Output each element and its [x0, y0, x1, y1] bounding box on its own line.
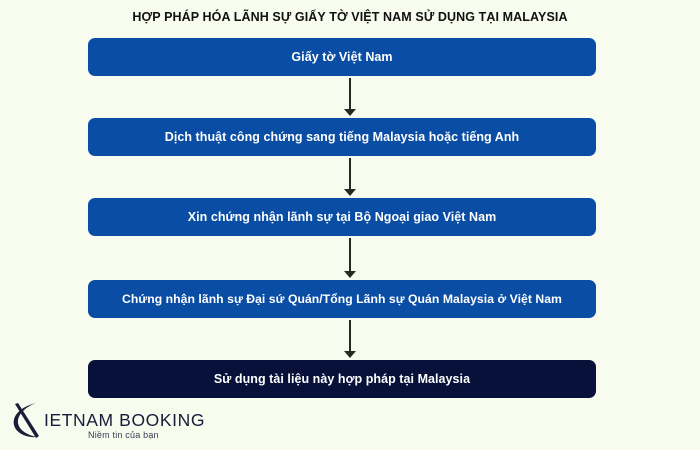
- brand-logo: IETNAM BOOKING Niềm tin của bạn: [6, 400, 196, 448]
- down-arrow-icon: [344, 351, 356, 358]
- connector-4-line: [349, 320, 351, 354]
- connector-2-line: [349, 158, 351, 192]
- down-arrow-icon: [344, 271, 356, 278]
- logo-tagline: Niềm tin của bạn: [88, 430, 159, 440]
- logo-wordmark: IETNAM BOOKING: [44, 410, 205, 431]
- flowchart: Giấy tờ Việt Nam Dịch thuật công chứng s…: [0, 0, 700, 450]
- flow-step-5: Sử dụng tài liệu này hợp pháp tại Malays…: [88, 360, 596, 398]
- connector-3-line: [349, 238, 351, 274]
- down-arrow-icon: [344, 189, 356, 196]
- connector-1-line: [349, 78, 351, 112]
- flow-step-4: Chứng nhận lãnh sự Đại sứ Quán/Tổng Lãnh…: [88, 280, 596, 318]
- diagram-canvas: HỢP PHÁP HÓA LÃNH SỰ GIẤY TỜ VIỆT NAM SỬ…: [0, 0, 700, 450]
- down-arrow-icon: [344, 109, 356, 116]
- flow-step-3: Xin chứng nhận lãnh sự tại Bộ Ngoại giao…: [88, 198, 596, 236]
- flow-step-2: Dịch thuật công chứng sang tiếng Malaysi…: [88, 118, 596, 156]
- flow-step-1: Giấy tờ Việt Nam: [88, 38, 596, 76]
